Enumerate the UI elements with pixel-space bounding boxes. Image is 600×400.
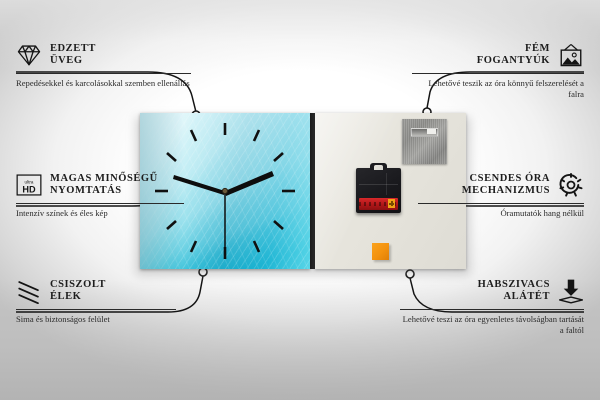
hour-marker-2 (274, 153, 283, 161)
feature-title-line1: HABSZIVACS (478, 279, 550, 292)
feature-description: Lehetővé teszik az óra könnyű felszerelé… (412, 78, 584, 100)
battery (359, 198, 398, 210)
hanger-brushed-texture (402, 119, 447, 164)
ultra-hd-small-label: ultra (25, 179, 34, 184)
hanger-slot (411, 128, 438, 137)
feature-divider (412, 73, 584, 74)
feature-title-line2: NYOMTATÁS (50, 185, 158, 198)
feature-description: Sima és biztonságos felület (16, 314, 176, 325)
feature-title-line1: MAGAS MINŐSÉGŰ (50, 173, 158, 186)
feature-foam-pad: HABSZIVACS ALÁTÉT Lehetővé teszi az óra … (400, 278, 584, 336)
feature-title-line2: FOGANTYÚK (477, 55, 550, 68)
foam-spacer-pad (372, 243, 389, 260)
infographic-canvas: EDZETT ÜVEG Repedésekkel és karcolásokka… (0, 0, 600, 400)
feature-title-line1: EDZETT (50, 43, 96, 56)
battery-plus-terminal (388, 199, 395, 208)
hour-marker-8 (167, 221, 176, 229)
feature-tempered-glass: EDZETT ÜVEG Repedésekkel és karcolásokka… (16, 42, 191, 89)
feature-metal-hooks: FÉM FOGANTYÚK Lehetővé teszik az óra kön… (412, 42, 584, 100)
hour-marker-4 (274, 221, 283, 229)
hour-marker-1 (254, 130, 259, 141)
mechanism-seam-vertical (386, 173, 387, 195)
feature-polished-edges: CSISZOLT ÉLEK Sima és biztonságos felüle… (16, 278, 176, 325)
feature-title-line1: CSENDES ÓRA (462, 173, 550, 186)
gear-icon (558, 172, 584, 198)
hour-marker-10 (167, 153, 176, 161)
feature-title-line2: ÉLEK (50, 291, 106, 304)
feature-title-line2: ALÁTÉT (478, 291, 550, 304)
picture-hanger-icon (558, 42, 584, 68)
feature-quiet-mechanism: CSENDES ÓRA MECHANIZMUS Óramutatók hang (418, 172, 584, 219)
feature-divider (418, 203, 584, 204)
mechanism-hanger-tab (370, 163, 387, 170)
feature-title-line2: MECHANIZMUS (462, 185, 550, 198)
feature-divider (16, 73, 191, 74)
arrow-down-pad-icon (558, 278, 584, 304)
ultra-hd-icon: ultra HD (16, 172, 42, 198)
clock-center-cap (222, 188, 227, 193)
metal-hanger-plate (402, 119, 447, 164)
feature-description: Intenzív színek és éles kép (16, 208, 184, 219)
feature-description: Repedésekkel és karcolásokkal szemben el… (16, 78, 191, 89)
ultra-hd-large-label: HD (22, 185, 36, 195)
feature-description: Lehetővé teszi az óra egyenletes távolsá… (400, 314, 584, 336)
feature-title-line2: ÜVEG (50, 55, 96, 68)
feature-divider (16, 203, 184, 204)
diamond-icon (16, 42, 42, 68)
hour-marker-11 (191, 130, 196, 141)
feature-description: Óramutatók hang nélkül (418, 208, 584, 219)
feature-divider (400, 309, 584, 310)
clock-mechanism (356, 168, 401, 213)
hour-marker-7 (191, 241, 196, 252)
feature-hd-print: ultra HD MAGAS MINŐSÉGŰ NYOMTATÁS Intenz… (16, 172, 184, 219)
mechanism-seam (359, 184, 398, 185)
diagonal-lines-icon (16, 278, 42, 304)
feature-title-line1: FÉM (477, 43, 550, 56)
feature-title-line1: CSISZOLT (50, 279, 106, 292)
feature-divider (16, 309, 176, 310)
clock-minute-hand (225, 171, 274, 196)
hour-marker-5 (254, 241, 259, 252)
